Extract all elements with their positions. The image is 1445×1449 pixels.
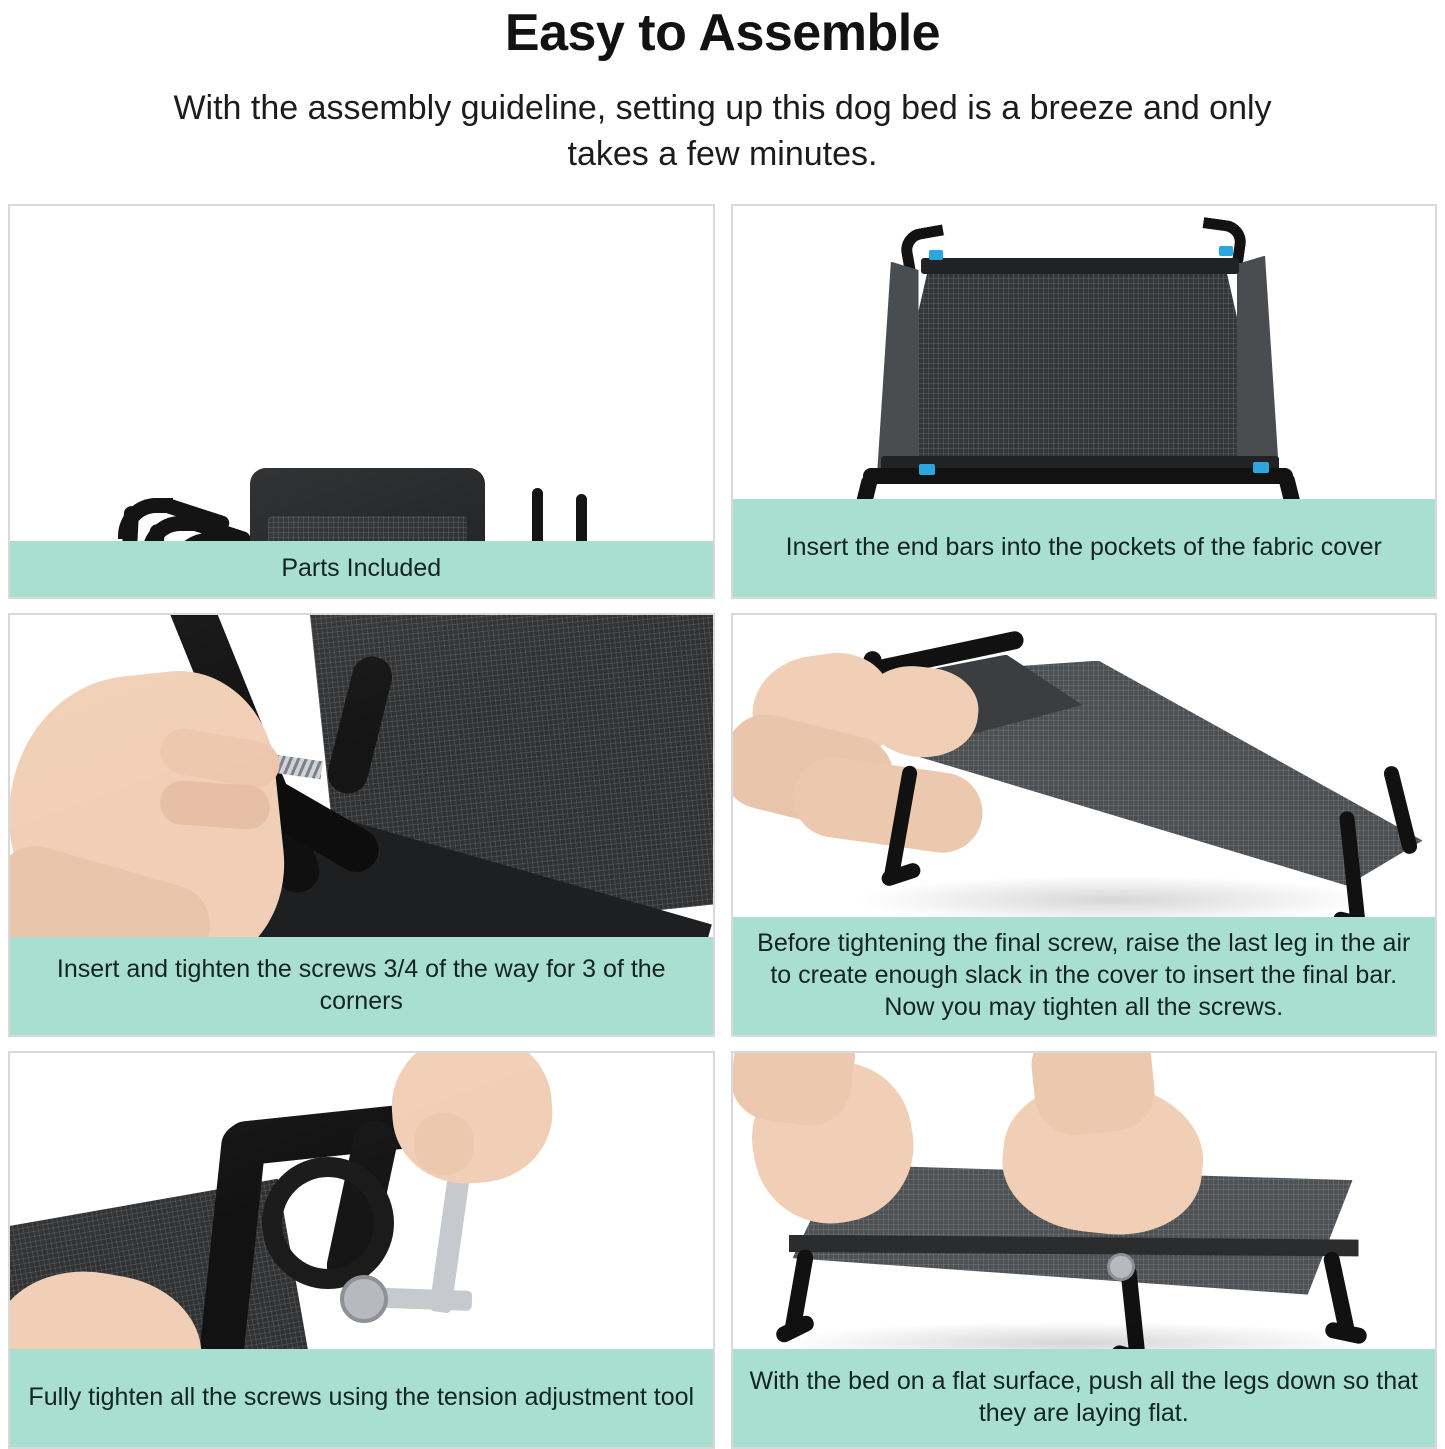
finger [414,1113,474,1175]
drop-shadow [773,1321,1373,1349]
front-right-leg [1277,471,1308,499]
illustration-fully-tighten-screws [10,1053,713,1349]
blue-tag-icon [929,250,943,260]
end-bar-part [576,494,587,541]
illustration-push-legs-flat [733,1053,1436,1349]
mesh-top-surface [883,264,1273,474]
step-card-fully-tighten-screws: Fully tighten all the screws using the t… [8,1051,715,1449]
step-card-parts-included: Parts Included [8,204,715,599]
step-caption: Parts Included [10,541,713,597]
screw-head [1107,1253,1135,1281]
screw-head [340,1275,388,1323]
page-subtitle: With the assembly guideline, setting up … [153,86,1293,178]
steps-grid: Parts Included [8,204,1437,1449]
blue-tag-icon [919,464,935,475]
page-title: Easy to Assemble [8,4,1437,64]
blue-tag-icon [1253,462,1269,473]
mesh-texture [883,264,1273,474]
fabric-hem-top [921,258,1239,274]
frame-hook [1198,217,1248,264]
step-caption: Insert the end bars into the pockets of … [733,499,1436,597]
blue-tag-icon [1219,246,1233,256]
step-card-tighten-three-corners: Insert and tighten the screws 3/4 of the… [8,613,715,1037]
mesh-left-panel [873,262,919,474]
step-caption: Fully tighten all the screws using the t… [10,1349,713,1447]
front-left-leg [847,473,878,499]
frame-bend-ring [262,1157,394,1289]
step-card-insert-end-bars: Insert the end bars into the pockets of … [731,204,1438,599]
end-bar-part [532,488,543,541]
step-card-raise-last-leg: Before tightening the final screw, raise… [731,613,1438,1037]
hand [387,1053,557,1188]
illustration-parts-included [10,206,713,541]
thumb [159,779,272,831]
drop-shadow [853,875,1373,917]
step-card-push-legs-flat: With the bed on a flat surface, push all… [731,1051,1438,1449]
fabric-cover [250,468,485,541]
mesh-right-panel [1237,256,1283,470]
step-caption: Insert and tighten the screws 3/4 of the… [10,937,713,1035]
step-caption: With the bed on a flat surface, push all… [733,1349,1436,1447]
assembly-instruction-page: Easy to Assemble With the assembly guide… [0,4,1445,1437]
illustration-raise-last-leg [733,615,1436,917]
illustration-tighten-three-corners [10,615,713,937]
step-caption: Before tightening the final screw, raise… [733,917,1436,1035]
mesh-surface [268,516,467,541]
illustration-insert-end-bars [733,206,1436,499]
